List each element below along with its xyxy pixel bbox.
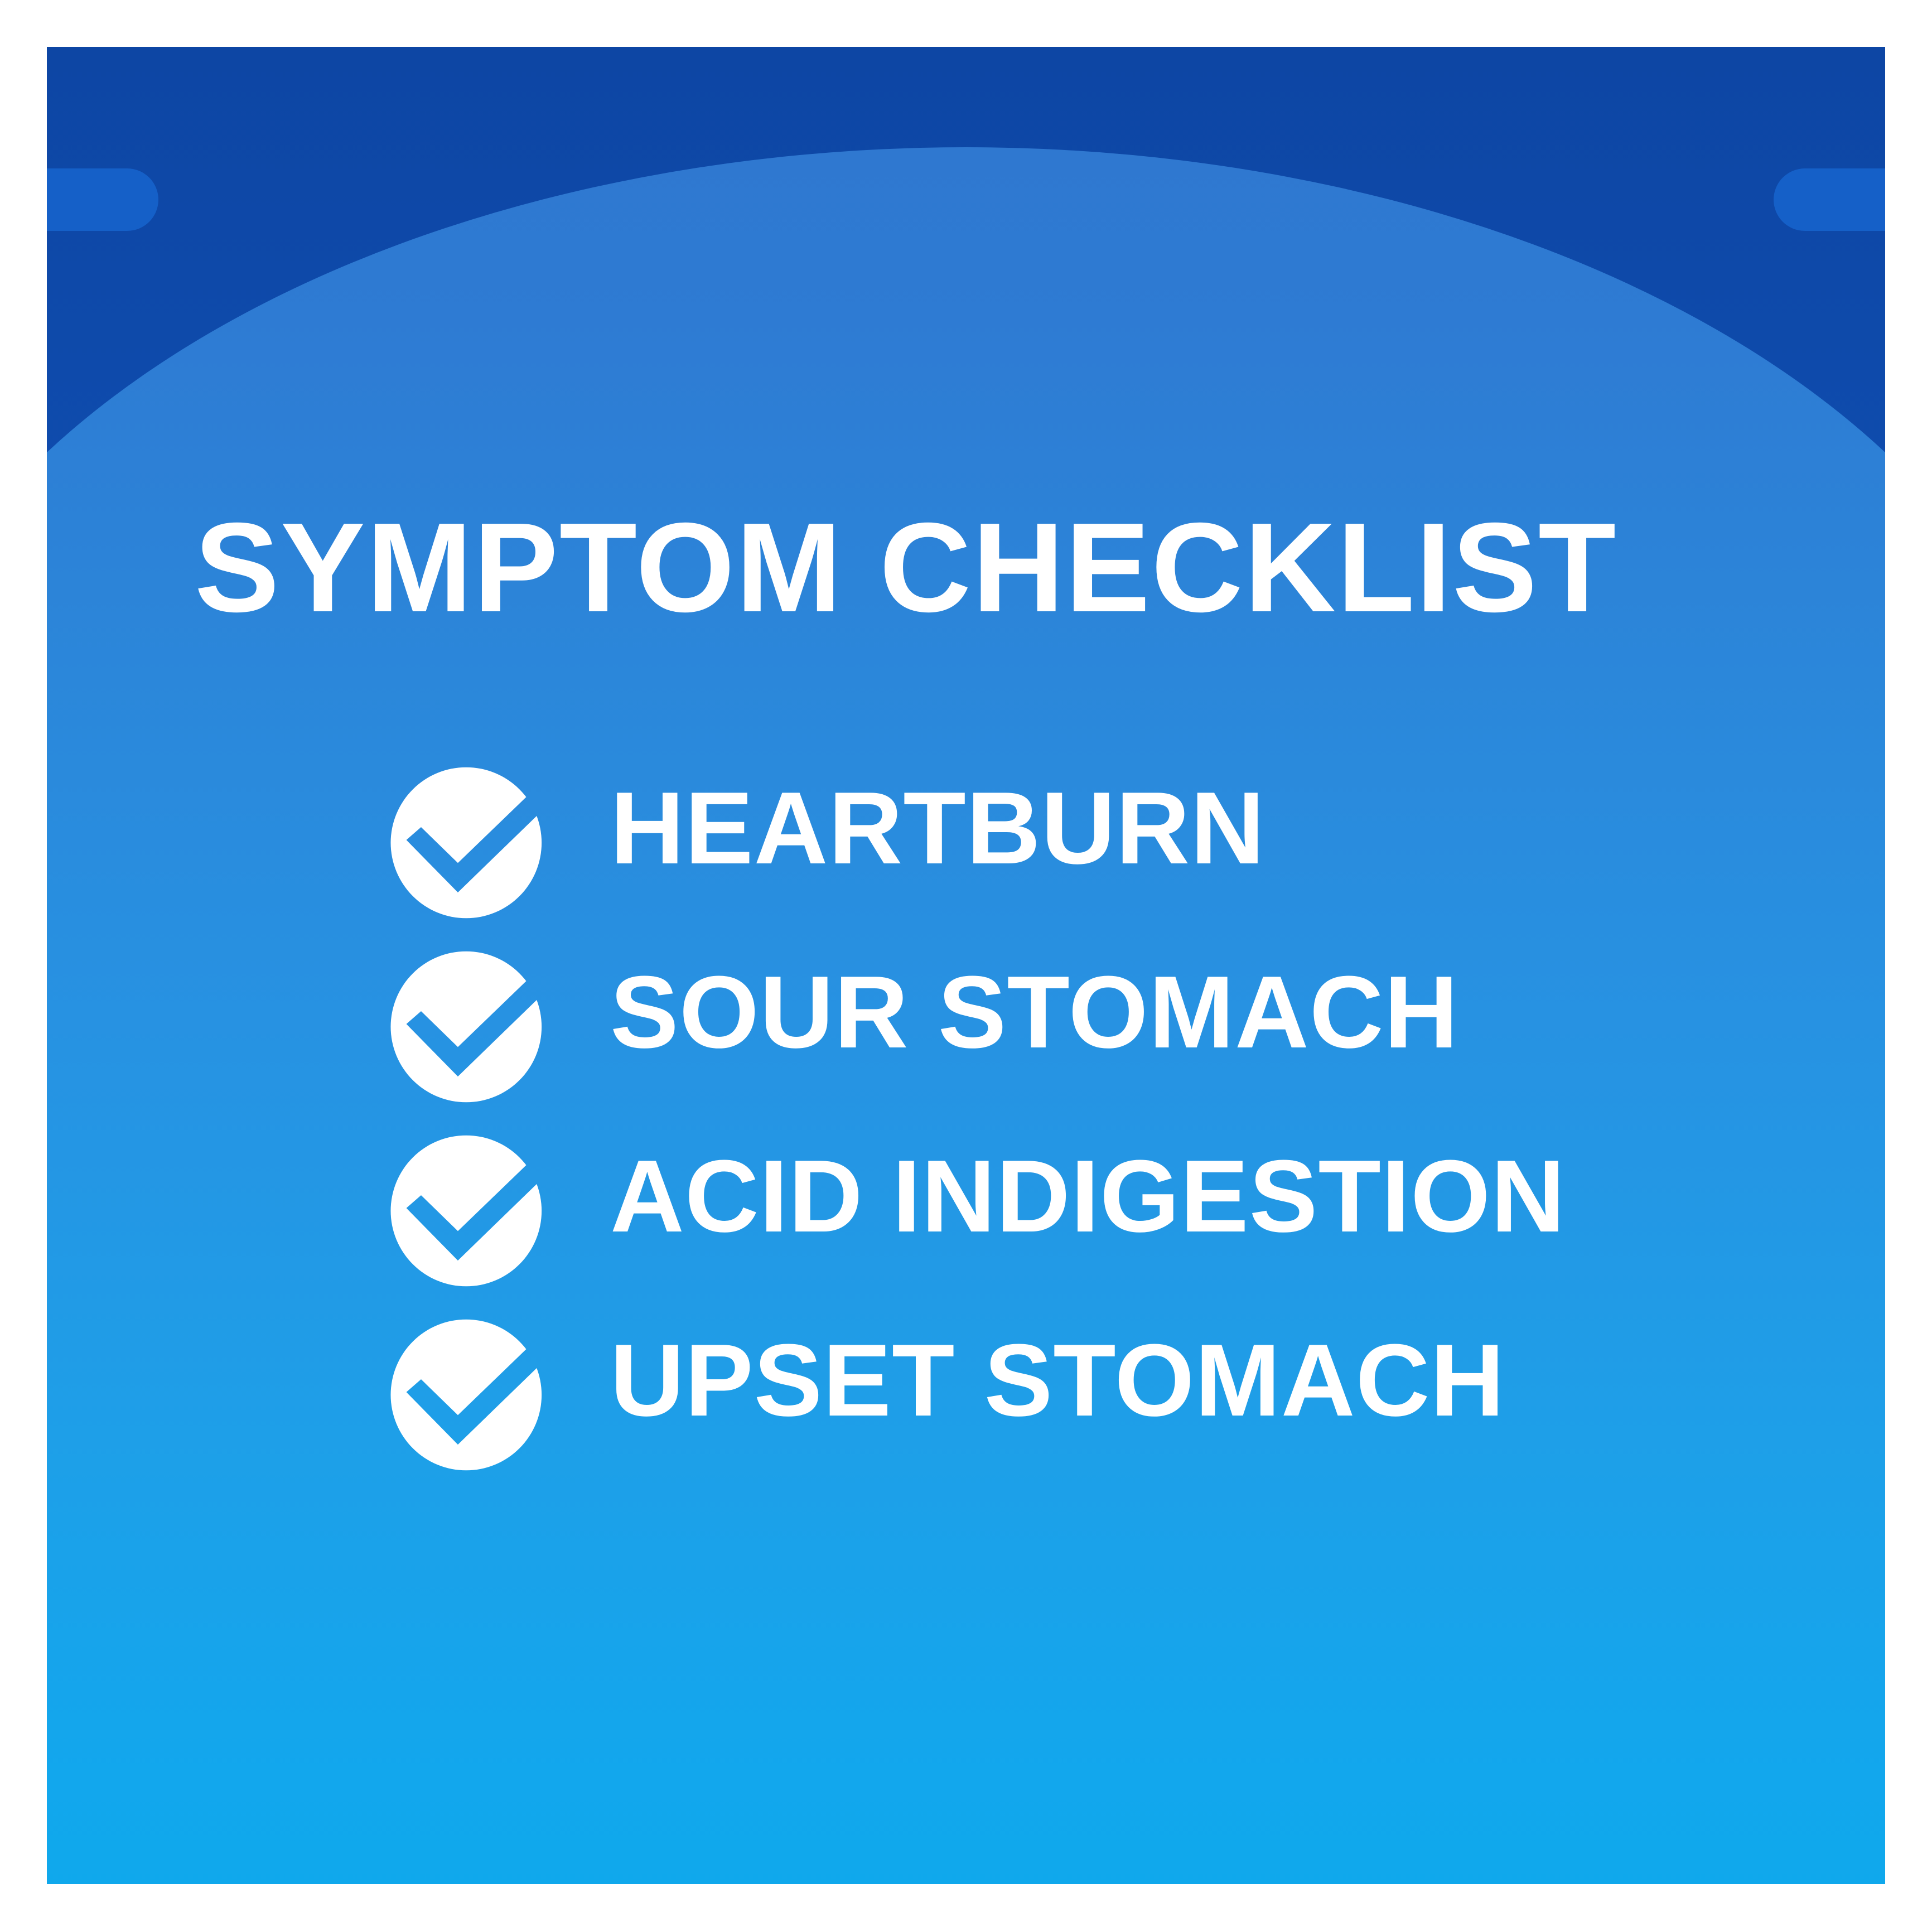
check-circle-icon: [381, 751, 566, 935]
check-circle-icon: [381, 1119, 566, 1303]
list-item: UPSET STOMACH: [381, 1303, 1832, 1487]
check-circle-icon: [381, 935, 566, 1119]
page-title: SYMPTOM CHECKLIST: [47, 504, 1765, 631]
list-item-label: SOUR STOMACH: [610, 960, 1459, 1063]
list-item: HEARTBURN: [381, 751, 1832, 935]
list-item-label: UPSET STOMACH: [610, 1329, 1505, 1431]
list-item: ACID INDIGESTION: [381, 1119, 1832, 1303]
symptom-checklist: HEARTBURN SOUR STOMACH: [381, 751, 1832, 1487]
poster-content: SYMPTOM CHECKLIST HEARTBURN: [47, 47, 1885, 1884]
check-circle-icon: [381, 1303, 566, 1487]
list-item-label: ACID INDIGESTION: [610, 1144, 1566, 1247]
list-item-label: HEARTBURN: [610, 776, 1265, 879]
poster-canvas: SYMPTOM CHECKLIST HEARTBURN: [47, 47, 1885, 1884]
list-item: SOUR STOMACH: [381, 935, 1832, 1119]
